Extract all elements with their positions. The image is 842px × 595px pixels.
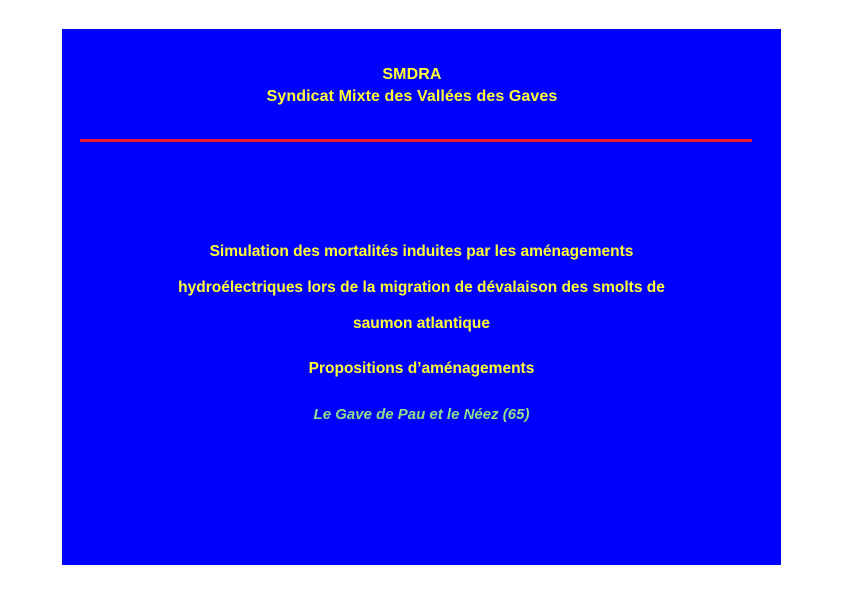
title-line-1: Simulation des mortalités induites par l… <box>62 234 781 270</box>
organization-name: Syndicat Mixte des Vallées des Gaves <box>62 86 762 108</box>
organization-acronym: SMDRA <box>62 64 762 86</box>
header-divider-rule <box>80 139 752 142</box>
river-reference: Le Gave de Pau et le Néez (65) <box>62 397 781 433</box>
title-line-3: saumon atlantique <box>62 306 781 342</box>
presentation-slide: SMDRA Syndicat Mixte des Vallées des Gav… <box>62 29 781 565</box>
slide-body: Simulation des mortalités induites par l… <box>62 234 781 433</box>
subtitle-proposals: Propositions d’aménagements <box>62 351 781 387</box>
slide-header: SMDRA Syndicat Mixte des Vallées des Gav… <box>62 64 762 108</box>
title-line-2: hydroélectriques lors de la migration de… <box>62 270 781 306</box>
